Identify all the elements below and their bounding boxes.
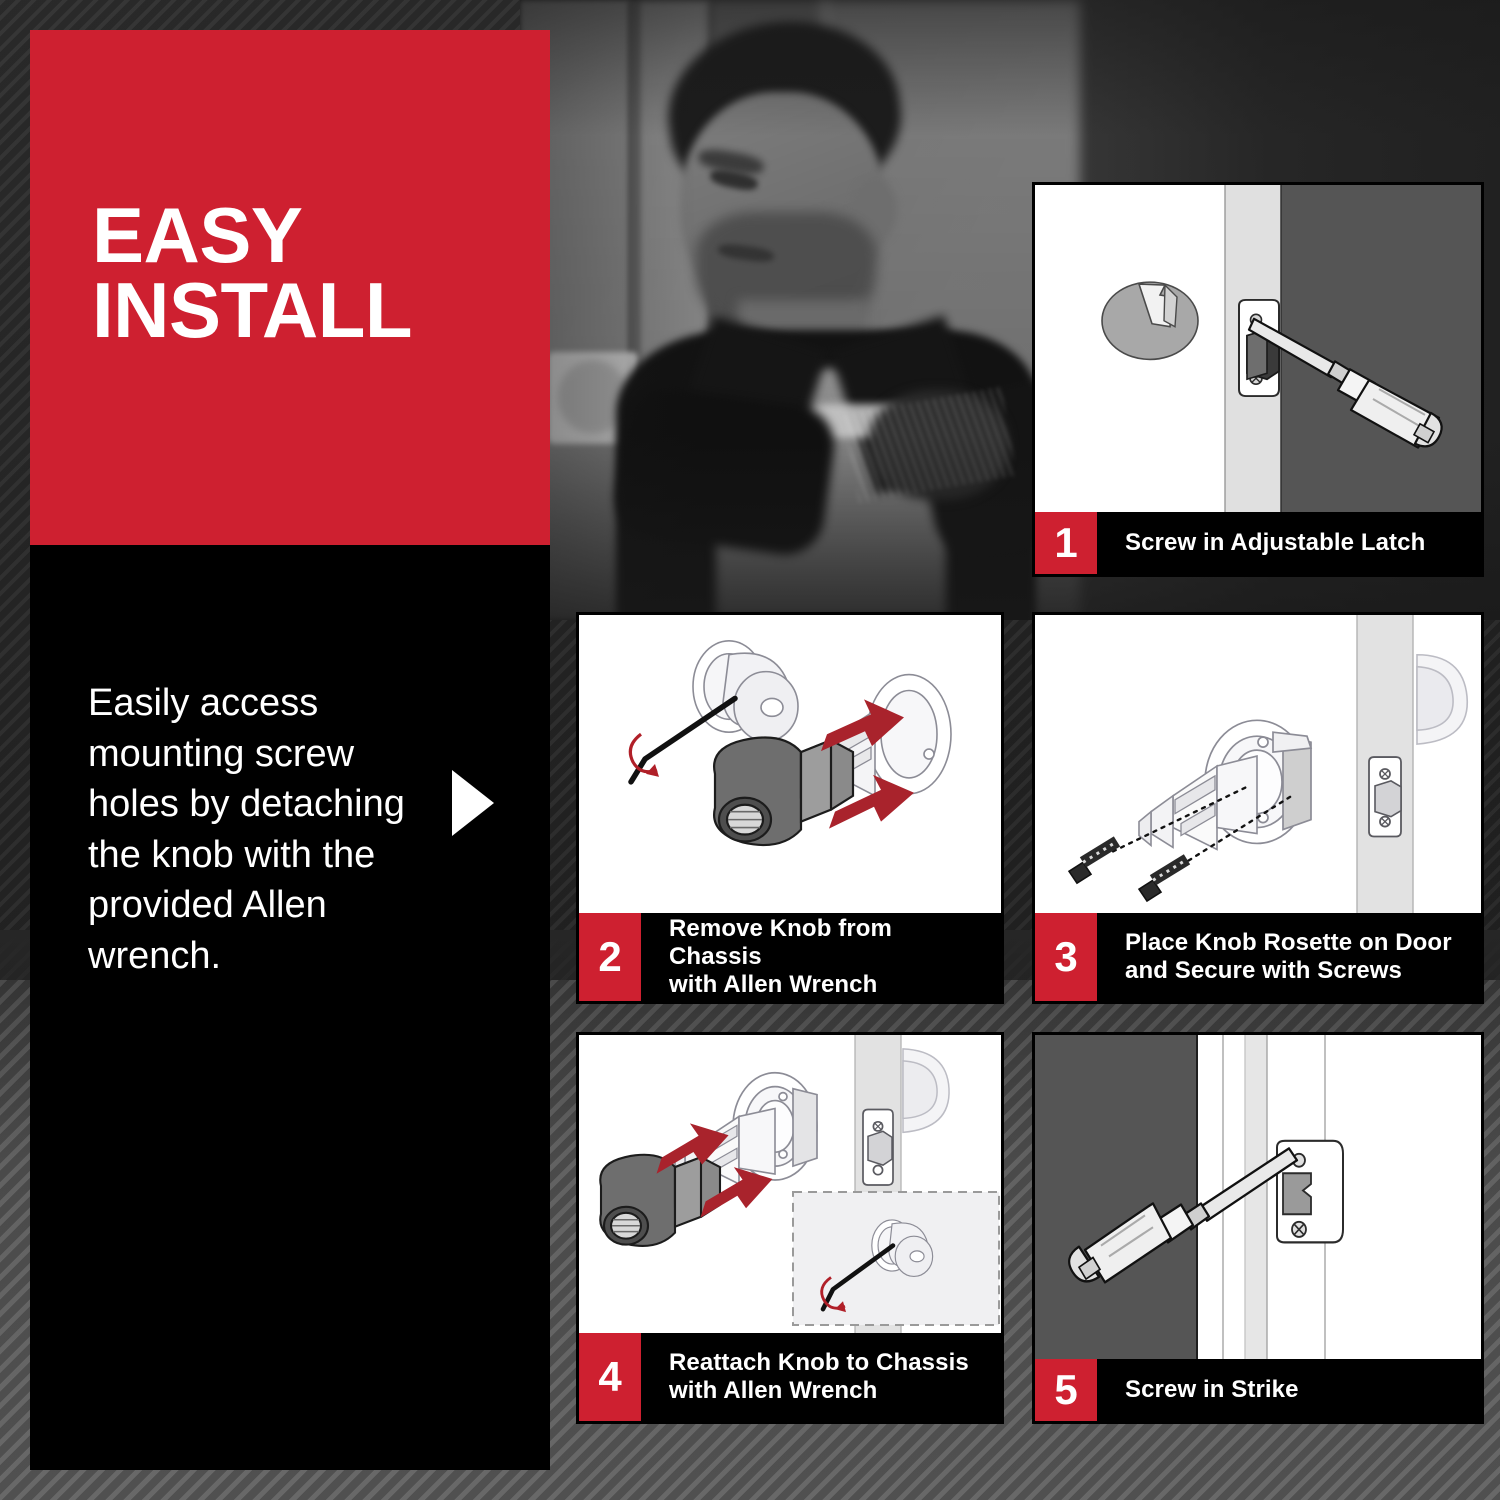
strike-plate-screwdriver-icon: [1035, 1035, 1481, 1359]
step-2-label: Remove Knob from Chassis with Allen Wren…: [641, 913, 1001, 1001]
step-5-illustration: [1035, 1035, 1481, 1359]
play-triangle-icon: [452, 770, 494, 836]
step-4-number: 4: [579, 1333, 641, 1421]
step-1-number: 1: [1035, 512, 1097, 574]
step-2-caption: 2 Remove Knob from Chassis with Allen Wr…: [579, 913, 1001, 1001]
page-title-line2: INSTALL: [92, 266, 412, 354]
door-edge-latch-screwdriver-icon: [1035, 185, 1481, 512]
step-1-caption: 1 Screw in Adjustable Latch: [1035, 512, 1481, 574]
step-4-caption: 4 Reattach Knob to Chassis with Allen Wr…: [579, 1333, 1001, 1421]
step-3-illustration: [1035, 615, 1481, 913]
rosette-screws-door-icon: [1035, 615, 1481, 913]
step-2-number: 2: [579, 913, 641, 1001]
step-4-label: Reattach Knob to Chassis with Allen Wren…: [641, 1333, 979, 1421]
step-3-number: 3: [1035, 913, 1097, 1001]
knob-reattach-with-inset-icon: [579, 1035, 1001, 1333]
step-panel-2: 2 Remove Knob from Chassis with Allen Wr…: [576, 612, 1004, 1004]
hero-description: Easily access mounting screw holes by de…: [88, 678, 433, 981]
step-4-illustration: [579, 1035, 1001, 1333]
step-5-label: Screw in Strike: [1097, 1359, 1309, 1421]
step-panel-1: 1 Screw in Adjustable Latch: [1032, 182, 1484, 577]
step-2-illustration: [579, 615, 1001, 913]
step-1-label: Screw in Adjustable Latch: [1097, 512, 1435, 574]
step-3-label: Place Knob Rosette on Door and Secure wi…: [1097, 913, 1462, 1001]
step-5-caption: 5 Screw in Strike: [1035, 1359, 1481, 1421]
step-panel-5: 5 Screw in Strike: [1032, 1032, 1484, 1424]
step-3-caption: 3 Place Knob Rosette on Door and Secure …: [1035, 913, 1481, 1001]
step-panel-4: 4 Reattach Knob to Chassis with Allen Wr…: [576, 1032, 1004, 1424]
page-title: EASYINSTALL: [92, 198, 522, 348]
step-1-illustration: [1035, 185, 1481, 512]
allen-wrench-knob-removal-icon: [579, 615, 1001, 913]
step-panel-3: 3 Place Knob Rosette on Door and Secure …: [1032, 612, 1484, 1004]
step-5-number: 5: [1035, 1359, 1097, 1421]
